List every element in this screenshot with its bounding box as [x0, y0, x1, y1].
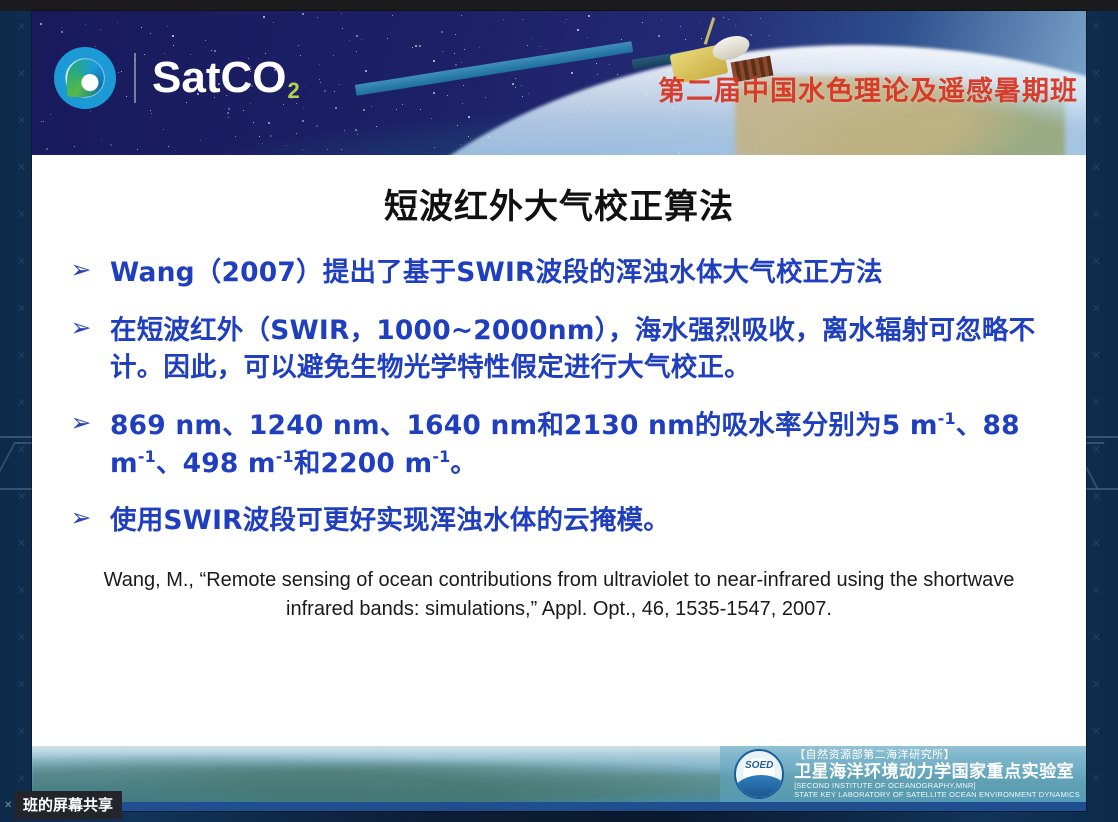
wallpaper-accent-line	[1084, 488, 1118, 490]
slide-footer: SOED 【自然资源部第二海洋研究所】 卫星海洋环境动力学国家重点实验室 [SE…	[32, 746, 1086, 811]
arrow-bullet-icon: ➢	[68, 312, 94, 344]
logo-divider	[134, 53, 136, 103]
satco2-logo: SatCO2	[54, 47, 300, 109]
satco2-logo-mark-icon	[54, 47, 116, 109]
logo-main-text: SatCO	[152, 56, 286, 100]
bullet-list: ➢ Wang（2007）提出了基于SWIR波段的浑浊水体大气校正方法 ➢ 在短波…	[32, 254, 1086, 540]
bullet-text-3: 869 nm、1240 nm、1640 nm和2130 nm的吸水率分别为5 m…	[110, 407, 1060, 482]
soed-lab-text: 【自然资源部第二海洋研究所】 卫星海洋环境动力学国家重点实验室 [SECOND …	[794, 749, 1080, 799]
wallpaper-accent-line	[1084, 436, 1118, 438]
citation-text: Wang, M., “Remote sensing of ocean contr…	[78, 566, 1040, 624]
soed-lab-en: STATE KEY LABORATORY OF SATELLITE OCEAN …	[794, 791, 1080, 799]
arrow-bullet-icon: ➢	[68, 254, 94, 286]
arrow-bullet-icon: ➢	[68, 502, 94, 534]
satco2-logo-text: SatCO2	[152, 56, 300, 100]
swirl-icon	[67, 59, 104, 97]
logo-subscript-text: 2	[287, 80, 299, 102]
screen: ✕✕✕✕✕✕✕✕✕✕✕✕✕✕✕✕✕✕✕✕✕✕✕✕✕✕✕✕✕✕✕✕✕✕ SatCO…	[0, 0, 1118, 822]
satellite-mast-icon	[704, 17, 716, 45]
bullet-text-1: Wang（2007）提出了基于SWIR波段的浑浊水体大气校正方法	[110, 254, 883, 292]
soed-emblem-icon: SOED	[734, 749, 784, 799]
arrow-bullet-icon: ➢	[68, 407, 94, 439]
wallpaper-accent-line	[0, 488, 34, 490]
close-icon[interactable]: ✕	[4, 800, 12, 811]
soed-abbr-text: SOED	[736, 760, 782, 771]
screen-share-label: 班的屏幕共享	[14, 791, 122, 819]
shared-slide: SatCO2 第二届中国水色理论及遥感暑期班 短波红外大气校正算法 ➢ Wang…	[32, 11, 1086, 811]
soed-lab-logo: SOED 【自然资源部第二海洋研究所】 卫星海洋环境动力学国家重点实验室 [SE…	[720, 746, 1086, 802]
page-title: 短波红外大气校正算法	[32, 155, 1086, 228]
list-item: ➢ Wang（2007）提出了基于SWIR波段的浑浊水体大气校正方法	[68, 254, 1060, 292]
desktop-top-strip	[0, 0, 1118, 11]
bullet-text-2: 在短波红外（SWIR，1000~2000nm），海水强烈吸收，离水辐射可忽略不计…	[110, 312, 1060, 387]
slide-body: 短波红外大气校正算法 ➢ Wang（2007）提出了基于SWIR波段的浑浊水体大…	[32, 155, 1086, 746]
soed-lab-cn: 卫星海洋环境动力学国家重点实验室	[794, 762, 1080, 781]
wallpaper-accent-line	[0, 436, 34, 438]
bullet-text-4: 使用SWIR波段可更好实现浑浊水体的云掩模。	[110, 502, 670, 540]
list-item: ➢ 869 nm、1240 nm、1640 nm和2130 nm的吸水率分别为5…	[68, 407, 1060, 482]
footer-accent-bar	[32, 802, 1086, 811]
list-item: ➢ 在短波红外（SWIR，1000~2000nm），海水强烈吸收，离水辐射可忽略…	[68, 312, 1060, 387]
list-item: ➢ 使用SWIR波段可更好实现浑浊水体的云掩模。	[68, 502, 1060, 540]
soed-institute-cn: 【自然资源部第二海洋研究所】	[794, 749, 1080, 761]
slide-header: SatCO2 第二届中国水色理论及遥感暑期班	[32, 11, 1086, 155]
event-banner-title: 第二届中国水色理论及遥感暑期班	[632, 67, 1086, 110]
